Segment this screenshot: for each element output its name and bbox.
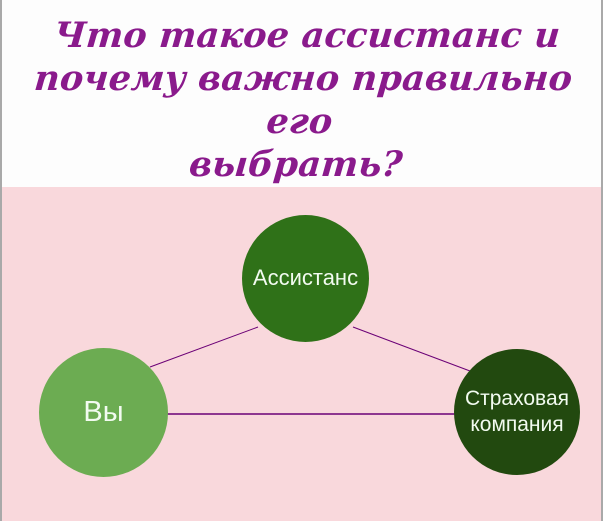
node-you-label: Вы [83, 395, 123, 430]
title-line-1: Что такое ассистанс и [52, 15, 562, 56]
node-you[interactable]: Вы [39, 348, 168, 477]
node-assistance-label: Ассистанс [253, 265, 358, 292]
title-line-2: почему важно правильно его [33, 58, 574, 142]
edge-assistance-insurer [353, 327, 470, 371]
node-assistance[interactable]: Ассистанс [242, 215, 369, 342]
slide-body: Ассистанс Вы Страховая компания [2, 187, 601, 521]
node-insurer-label: Страховая компания [464, 386, 570, 437]
relationship-diagram: Ассистанс Вы Страховая компания [2, 187, 601, 521]
node-insurer[interactable]: Страховая компания [454, 349, 580, 475]
title-line-3: выбрать? [187, 144, 404, 185]
page-title: Что такое ассистанс и почему важно прави… [0, 14, 603, 186]
slide-canvas: Что такое ассистанс и почему важно прави… [0, 0, 603, 521]
slide-header: Что такое ассистанс и почему важно прави… [2, 0, 601, 187]
edge-you-assistance [150, 327, 258, 367]
